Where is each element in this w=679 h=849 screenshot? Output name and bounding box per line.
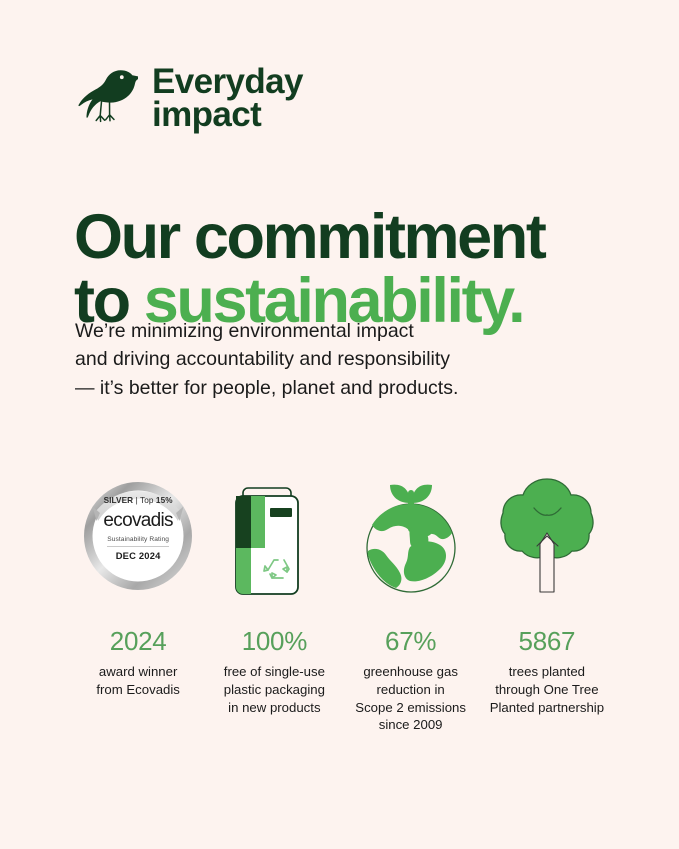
stat-caption: award winner from Ecovadis	[96, 663, 180, 699]
recyclable-packaging-icon	[222, 474, 326, 599]
stat-value: 5867	[519, 628, 576, 654]
intro-line-3: — it’s better for people, planet and pro…	[75, 374, 575, 402]
stat-item-ecovadis: SILVER | Top 15% ecovadis Sustainability…	[70, 466, 206, 699]
stat-value: 67%	[385, 628, 436, 654]
medal-ring	[82, 480, 194, 592]
globe-sprout-icon	[352, 467, 470, 605]
stat-icon-wrap	[352, 466, 470, 606]
intro-line-2: and driving accountability and responsib…	[75, 345, 575, 373]
brand-logo: Everyday impact	[76, 63, 303, 135]
stat-caption: trees planted through One Tree Planted p…	[490, 663, 604, 716]
tree-icon	[493, 470, 601, 602]
brand-wordmark: Everyday impact	[152, 66, 303, 131]
ecovadis-medal-icon: SILVER | Top 15% ecovadis Sustainability…	[82, 480, 194, 592]
page-title: Our commitment to sustainability.	[74, 205, 634, 334]
stat-icon-wrap	[493, 466, 601, 606]
stat-icon-wrap	[222, 466, 326, 606]
headline-line1: Our commitment	[74, 202, 544, 272]
stat-item-packaging: 100% free of single-use plastic packagin…	[206, 466, 342, 716]
stat-item-emissions: 67% greenhouse gas reduction in Scope 2 …	[343, 466, 479, 734]
stat-item-trees: 5867 trees planted through One Tree Plan…	[479, 466, 615, 716]
brand-name-line2: impact	[152, 99, 303, 132]
stat-caption: free of single-use plastic packaging in …	[224, 663, 325, 716]
stat-value: 2024	[110, 628, 167, 654]
stat-caption: greenhouse gas reduction in Scope 2 emis…	[355, 663, 466, 734]
bird-icon	[76, 63, 138, 135]
stat-icon-wrap: SILVER | Top 15% ecovadis Sustainability…	[82, 466, 194, 606]
infographic-page: Everyday impact Our commitment to sustai…	[0, 0, 679, 849]
stats-row: SILVER | Top 15% ecovadis Sustainability…	[70, 466, 615, 734]
stat-value: 100%	[242, 628, 307, 654]
intro-paragraph: We’re minimizing environmental impact an…	[75, 317, 575, 402]
intro-line-1: We’re minimizing environmental impact	[75, 317, 575, 345]
